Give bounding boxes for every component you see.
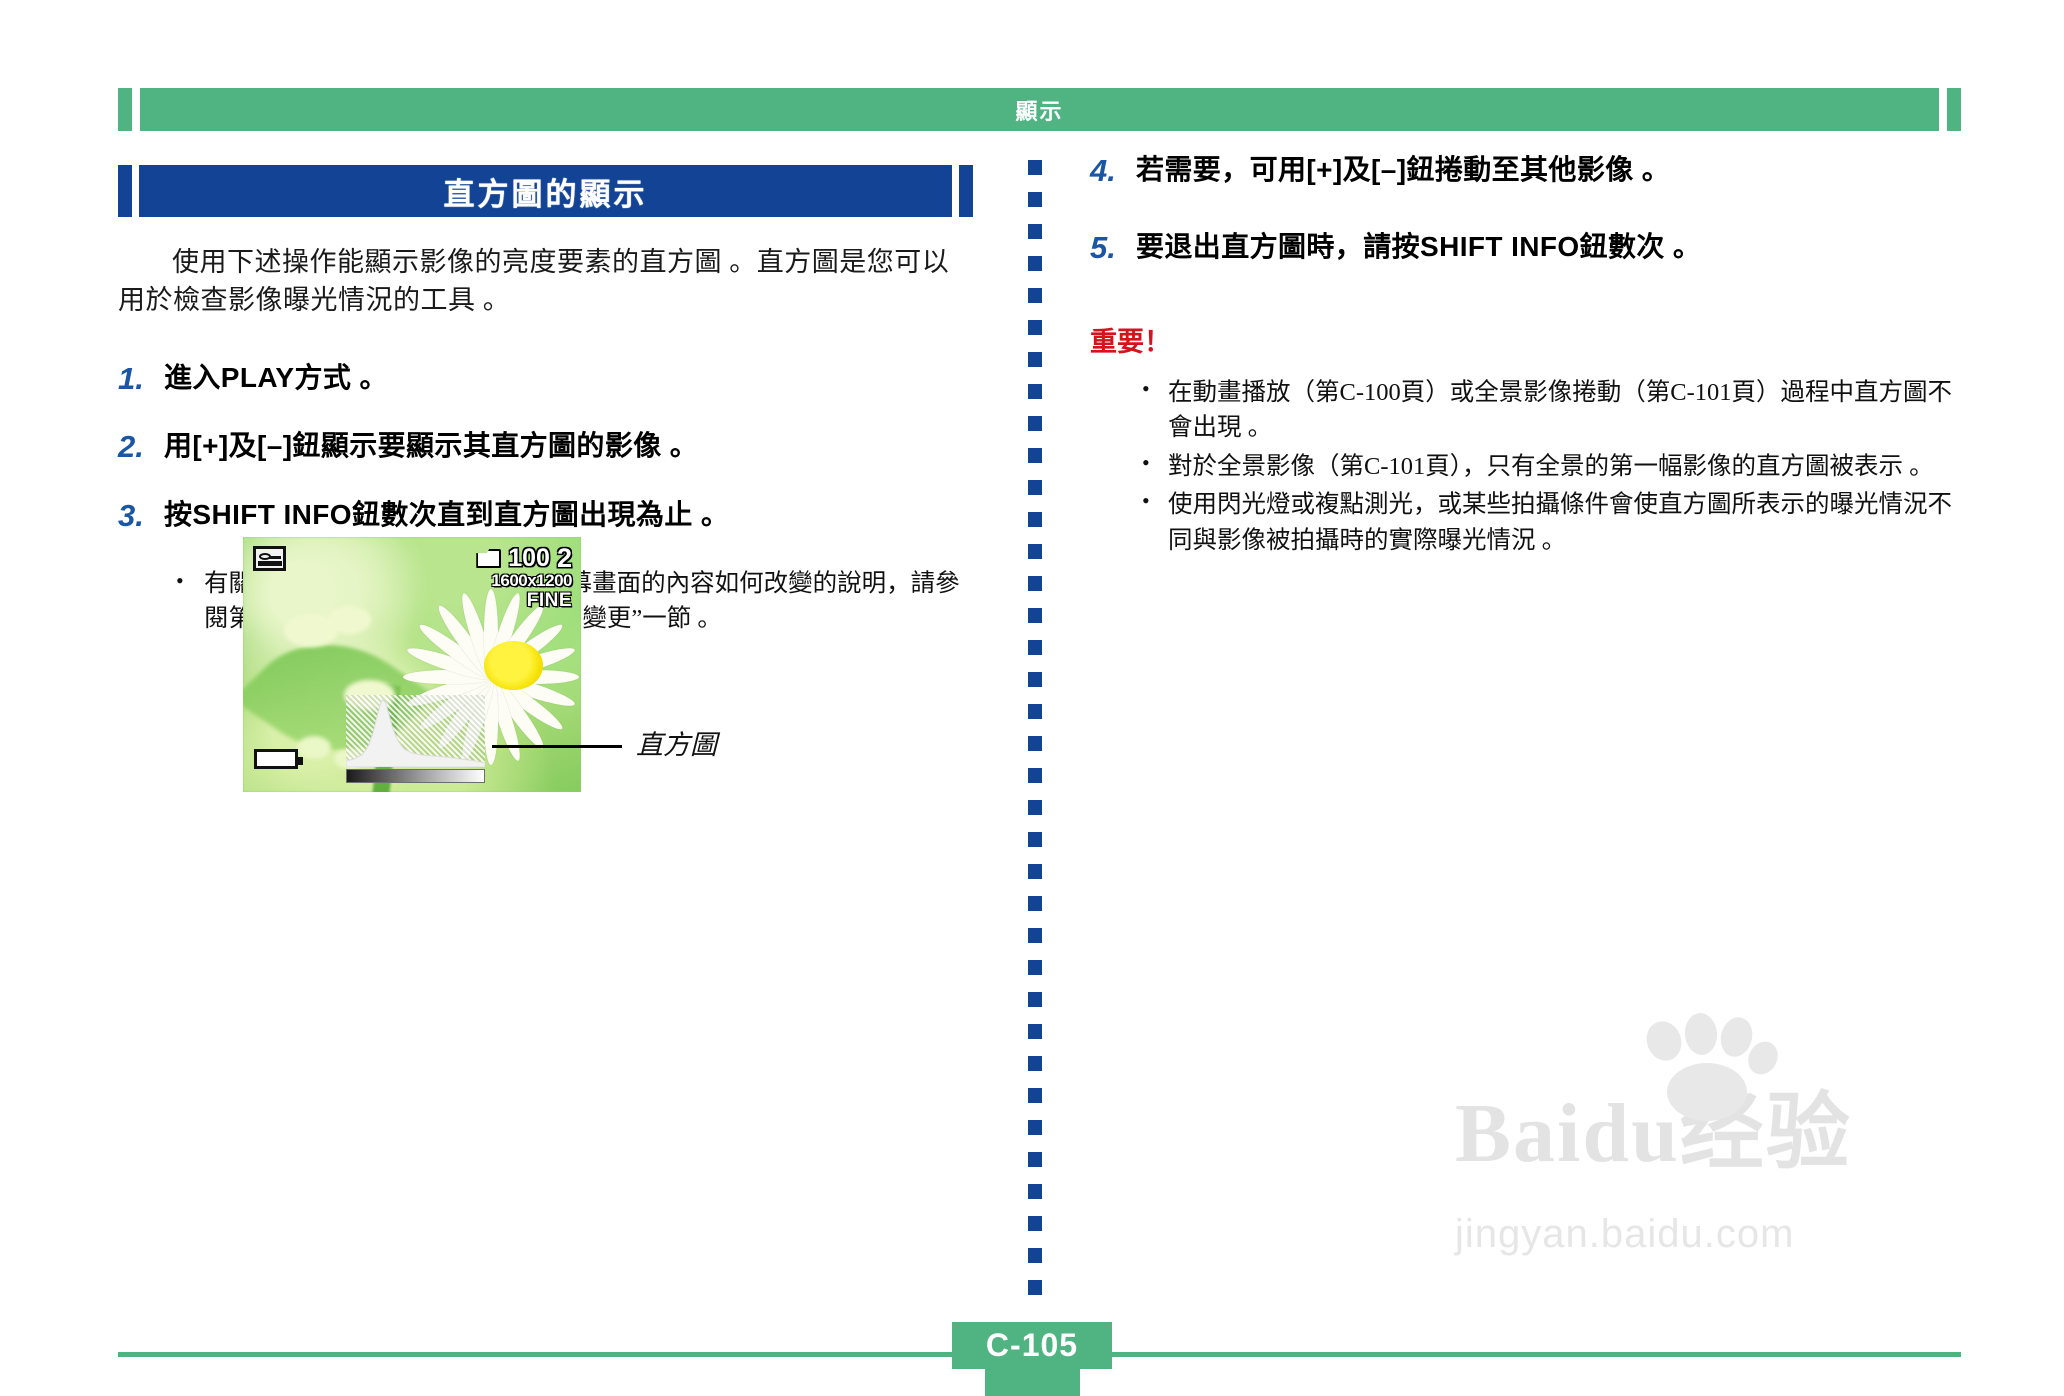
divider-dash: [1028, 1216, 1042, 1231]
divider-dash: [1028, 800, 1042, 815]
divider-dash: [1028, 896, 1042, 911]
step-2-number: 2.: [118, 428, 164, 467]
key-shaft-shape: [269, 556, 281, 559]
divider-dash: [1028, 1120, 1042, 1135]
divider-dash: [1028, 256, 1042, 271]
step-2: 2. 用[+]及[–]鈕顯示要顯示其直方圖的影像 。: [118, 428, 973, 467]
divider-dash: [1028, 1248, 1042, 1263]
resolution-label: 1600x1200: [491, 571, 572, 591]
protect-icon: [253, 546, 286, 571]
divider-dash: [1028, 608, 1042, 623]
section-title-right-tick: [959, 165, 973, 217]
folder-and-frame-row: 100 2: [476, 543, 572, 574]
battery-icon: [254, 749, 298, 769]
folder-icon: [476, 549, 501, 568]
section-title-gap: [132, 165, 139, 217]
flower-core: [484, 641, 543, 690]
important-label: 重要！: [1090, 320, 1965, 359]
divider-dash: [1028, 864, 1042, 879]
divider-dash: [1028, 352, 1042, 367]
baidu-watermark: Baidu经验 jingyan.baidu.com: [1455, 1065, 1955, 1300]
step-3: 3. 按SHIFT INFO鈕數次直到直方圖出現為止 。: [118, 497, 973, 536]
step-4: 4. 若需要，可用[+]及[–]鈕捲動至其他影像 。: [1090, 152, 1965, 191]
list-item: 對於全景影像（第C-101頁），只有全景的第一幅影像的直方圖被表示 。: [1138, 449, 1965, 485]
list-item: 在動畫播放（第C-100頁）或全景影像捲動（第C-101頁）過程中直方圖不會出現…: [1138, 375, 1965, 446]
divider-dash: [1028, 576, 1042, 591]
divider-dash: [1028, 448, 1042, 463]
divider-dash: [1028, 736, 1042, 751]
divider-dash: [1028, 224, 1042, 239]
divider-dash: [1028, 768, 1042, 783]
divider-dash: [1028, 704, 1042, 719]
step-5: 5. 要退出直方圖時，請按SHIFT INFO鈕數次 。: [1090, 229, 1965, 268]
divider-dash: [1028, 320, 1042, 335]
callout-label: 直方圖: [636, 723, 717, 762]
step-5-text: 要退出直方圖時，請按SHIFT INFO鈕數次 。: [1136, 229, 1701, 265]
camera-lcd-screen: 100 2 1600x1200 FINE: [243, 537, 581, 792]
divider-dash: [1028, 832, 1042, 847]
frame-number: 2: [557, 543, 572, 574]
camera-lcd-figure: 100 2 1600x1200 FINE: [243, 537, 581, 792]
step-4-number: 4.: [1090, 152, 1136, 191]
callout-leader-line: [492, 745, 622, 748]
section-title-left-tick: [118, 165, 132, 217]
header-left-tick: [118, 88, 132, 131]
section-title-gap-right: [952, 165, 959, 217]
column-divider: [1028, 160, 1042, 1285]
folder-number: 100: [508, 544, 550, 573]
running-head-band: 顯示: [118, 88, 1961, 131]
running-head-title: 顯示: [140, 88, 1939, 131]
list-item: 使用閃光燈或複點測光，或某些拍攝條件會使直方圖所表示的曝光情況不同與影像被拍攝時…: [1138, 487, 1965, 558]
divider-dash: [1028, 1184, 1042, 1199]
divider-dash: [1028, 1280, 1042, 1295]
step-2-text: 用[+]及[–]鈕顯示要顯示其直方圖的影像 。: [164, 428, 698, 464]
page-number-badge-tail: [985, 1369, 1080, 1396]
bud-2: [328, 606, 372, 634]
divider-dash: [1028, 160, 1042, 175]
important-notes-list: 在動畫播放（第C-100頁）或全景影像捲動（第C-101頁）過程中直方圖不會出現…: [1138, 375, 1965, 559]
divider-dash: [1028, 1024, 1042, 1039]
divider-dash: [1028, 192, 1042, 207]
divider-dash: [1028, 416, 1042, 431]
divider-dash: [1028, 1056, 1042, 1071]
divider-dash: [1028, 288, 1042, 303]
header-gap: [132, 88, 140, 131]
section-title: 直方圖的顯示: [139, 165, 952, 217]
divider-dash: [1028, 960, 1042, 975]
divider-dash: [1028, 672, 1042, 687]
step-3-text: 按SHIFT INFO鈕數次直到直方圖出現為止 。: [164, 497, 729, 533]
histogram-curve: [346, 695, 485, 767]
page-number-badge: C-105: [952, 1322, 1112, 1369]
divider-dash: [1028, 544, 1042, 559]
header-right-tick: [1947, 88, 1961, 131]
gradation-bar: [346, 769, 485, 783]
icon-base-bar: [258, 561, 282, 566]
right-column: 4. 若需要，可用[+]及[–]鈕捲動至其他影像 。 5. 要退出直方圖時，請按…: [1090, 152, 1965, 561]
divider-dash: [1028, 480, 1042, 495]
watermark-subtitle: jingyan.baidu.com: [1455, 1212, 1955, 1257]
step-4-text: 若需要，可用[+]及[–]鈕捲動至其他影像 。: [1136, 152, 1670, 188]
divider-dash: [1028, 384, 1042, 399]
divider-dash: [1028, 1152, 1042, 1167]
divider-dash: [1028, 512, 1042, 527]
step-1: 1. 進入PLAY方式 。: [118, 360, 973, 399]
step-1-number: 1.: [118, 360, 164, 399]
section-title-bar: 直方圖的顯示: [118, 165, 973, 217]
divider-dash: [1028, 928, 1042, 943]
step-5-number: 5.: [1090, 229, 1136, 268]
header-gap-right: [1939, 88, 1947, 131]
histogram-overlay: [346, 695, 485, 767]
bud-4: [297, 736, 331, 759]
section-intro: 使用下述操作能顯示影像的亮度要素的直方圖 。直方圖是您可以用於檢查影像曝光情況的…: [118, 243, 973, 320]
step-3-number: 3.: [118, 497, 164, 536]
quality-label: FINE: [527, 590, 572, 612]
divider-dash: [1028, 1088, 1042, 1103]
watermark-title: Baidu经验: [1455, 1065, 1955, 1186]
paw-print-icon: [1637, 1013, 1787, 1123]
step-1-text: 進入PLAY方式 。: [164, 360, 388, 396]
divider-dash: [1028, 640, 1042, 655]
divider-dash: [1028, 992, 1042, 1007]
